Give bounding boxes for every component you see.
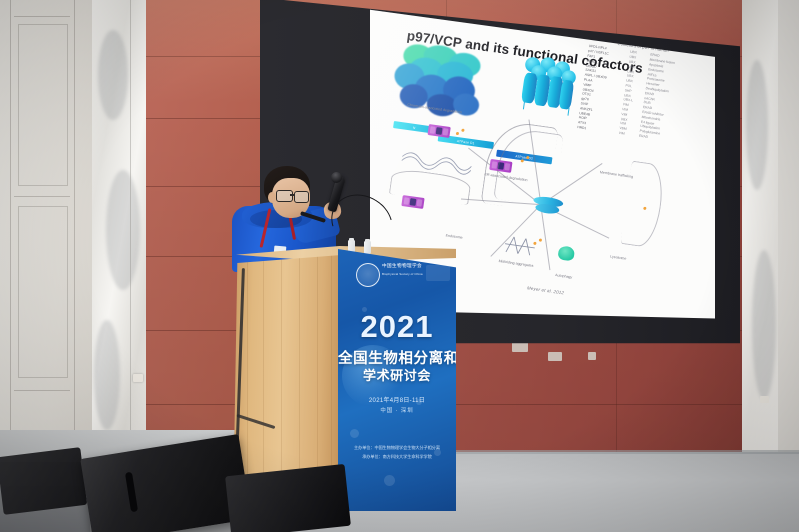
society-name-en: Biophysical Society of China (382, 272, 423, 276)
conference-photo: p97/VCP and its functional cofactors (0, 0, 799, 532)
society-logo-icon (356, 263, 380, 287)
pathway-label: Chromatin-associated degradation (407, 103, 462, 115)
wall-outlet-right (760, 396, 769, 403)
hexamer-schematic (516, 54, 586, 124)
banner-title-line2: 学术研讨会 (338, 365, 456, 384)
cosponsor-logo (426, 265, 450, 281)
wall-vent (588, 352, 596, 360)
pathway-label: Autophagy (555, 273, 573, 280)
pathway-label: Lysosome (610, 255, 627, 262)
eyeglasses-bridge (290, 194, 295, 196)
wall-vent (512, 342, 528, 352)
stage-monitor-speaker (0, 447, 87, 515)
society-name-cn: 中国生物物理学会 (382, 263, 422, 269)
eyeglasses-right-lens (294, 191, 309, 203)
water-bottle (364, 241, 371, 254)
banner-host-line: 主办单位：中国生物物理学会生物大分子相分离 (338, 445, 456, 451)
substrate-box (427, 124, 450, 138)
eyeglasses-left-lens (276, 190, 293, 202)
banner-year: 2021 (338, 309, 456, 345)
stage-monitor-speaker (225, 464, 351, 532)
speaker-ear (268, 192, 276, 203)
water-bottle-cap (365, 239, 370, 242)
pathway-label: Endosome (445, 233, 463, 240)
podium-banner: 中国生物物理学会 Biophysical Society of China 20… (338, 249, 456, 511)
banner-date: 2021年4月8日-11日 (338, 395, 456, 404)
banner-organizer-line: 承办单位：南方科技大学生命科学学院 (338, 454, 456, 460)
wall-outlet (133, 374, 143, 382)
wall-vent (548, 352, 562, 361)
banner-city: 中国 · 深圳 (338, 406, 456, 414)
water-bottle-cap (349, 238, 354, 241)
slide-citation: Meyer et al. 2012 (527, 285, 565, 295)
